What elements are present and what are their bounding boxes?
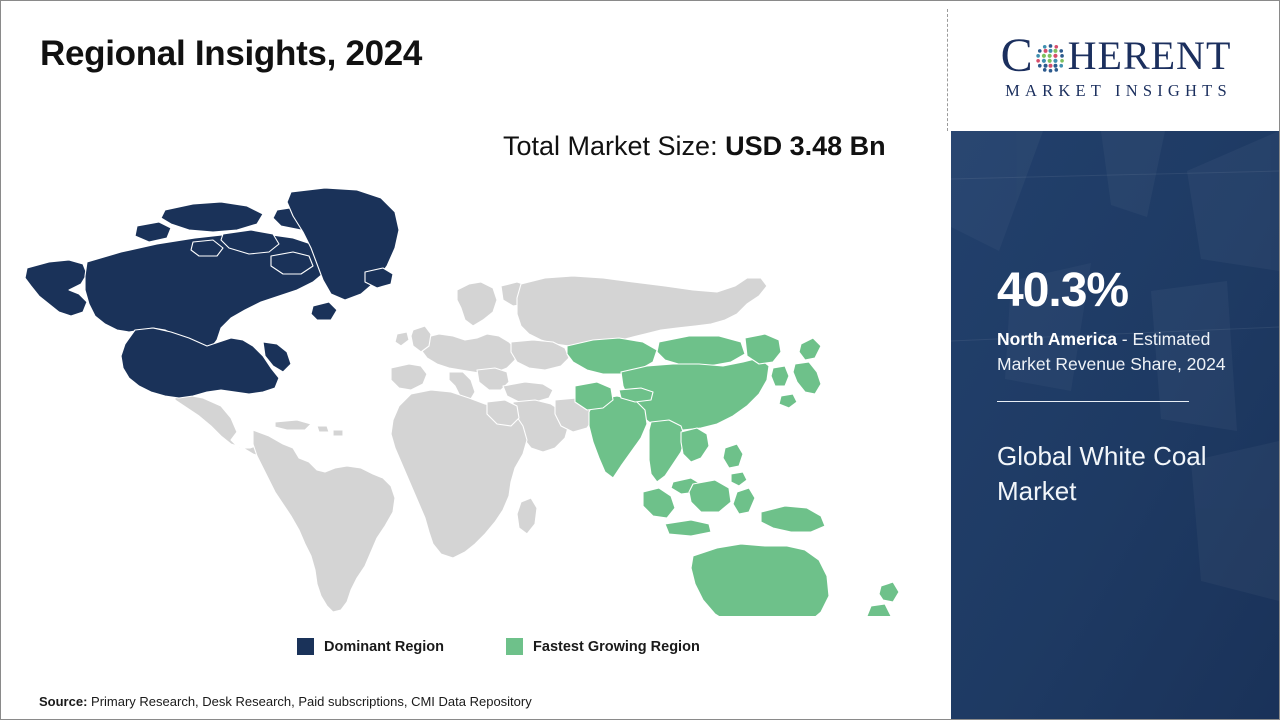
revenue-share-description: North America - Estimated Market Revenue… bbox=[997, 327, 1249, 377]
logo-letters-herent: HERENT bbox=[1068, 36, 1232, 76]
map-region-fastest-growing bbox=[567, 334, 899, 616]
color-swatch-icon bbox=[297, 638, 314, 655]
logo-tagline: MARKET INSIGHTS bbox=[970, 83, 1262, 100]
horizontal-rule bbox=[997, 401, 1189, 402]
world-map bbox=[25, 186, 905, 616]
brand-logo: C bbox=[953, 3, 1279, 131]
left-content-panel: Regional Insights, 2024 Total Market Siz… bbox=[1, 1, 947, 719]
world-map-container bbox=[25, 186, 905, 616]
source-note: Source: Primary Research, Desk Research,… bbox=[39, 694, 532, 709]
source-text: Primary Research, Desk Research, Paid su… bbox=[87, 694, 531, 709]
statistics-content: 40.3% North America - Estimated Market R… bbox=[997, 267, 1249, 509]
regional-insights-infographic: Regional Insights, 2024 Total Market Siz… bbox=[0, 0, 1280, 720]
logo-letter-c: C bbox=[1001, 34, 1034, 77]
legend-label-dominant: Dominant Region bbox=[324, 639, 444, 655]
market-size-value: USD 3.48 Bn bbox=[725, 131, 886, 161]
map-legend: Dominant Region Fastest Growing Region bbox=[297, 638, 700, 655]
legend-item-dominant: Dominant Region bbox=[297, 638, 444, 655]
revenue-share-percent: 40.3% bbox=[997, 267, 1249, 315]
color-swatch-icon bbox=[506, 638, 523, 655]
legend-label-fastest-growing: Fastest Growing Region bbox=[533, 639, 700, 655]
statistics-panel: 40.3% North America - Estimated Market R… bbox=[951, 131, 1279, 719]
market-name: Global White Coal Market bbox=[997, 439, 1249, 510]
dotted-sphere-icon bbox=[1034, 41, 1067, 74]
map-region-dominant bbox=[25, 188, 399, 398]
logo-wordmark: C bbox=[970, 34, 1262, 77]
region-name: North America bbox=[997, 329, 1117, 349]
source-label: Source: bbox=[39, 694, 87, 709]
market-size-prefix: Total Market Size: bbox=[503, 131, 725, 161]
total-market-size-callout: Total Market Size: USD 3.48 Bn bbox=[503, 127, 895, 165]
page-title: Regional Insights, 2024 bbox=[40, 34, 422, 74]
legend-item-fastest-growing: Fastest Growing Region bbox=[506, 638, 700, 655]
vertical-dashed-divider bbox=[947, 9, 948, 131]
logo-inner: C bbox=[970, 34, 1262, 100]
